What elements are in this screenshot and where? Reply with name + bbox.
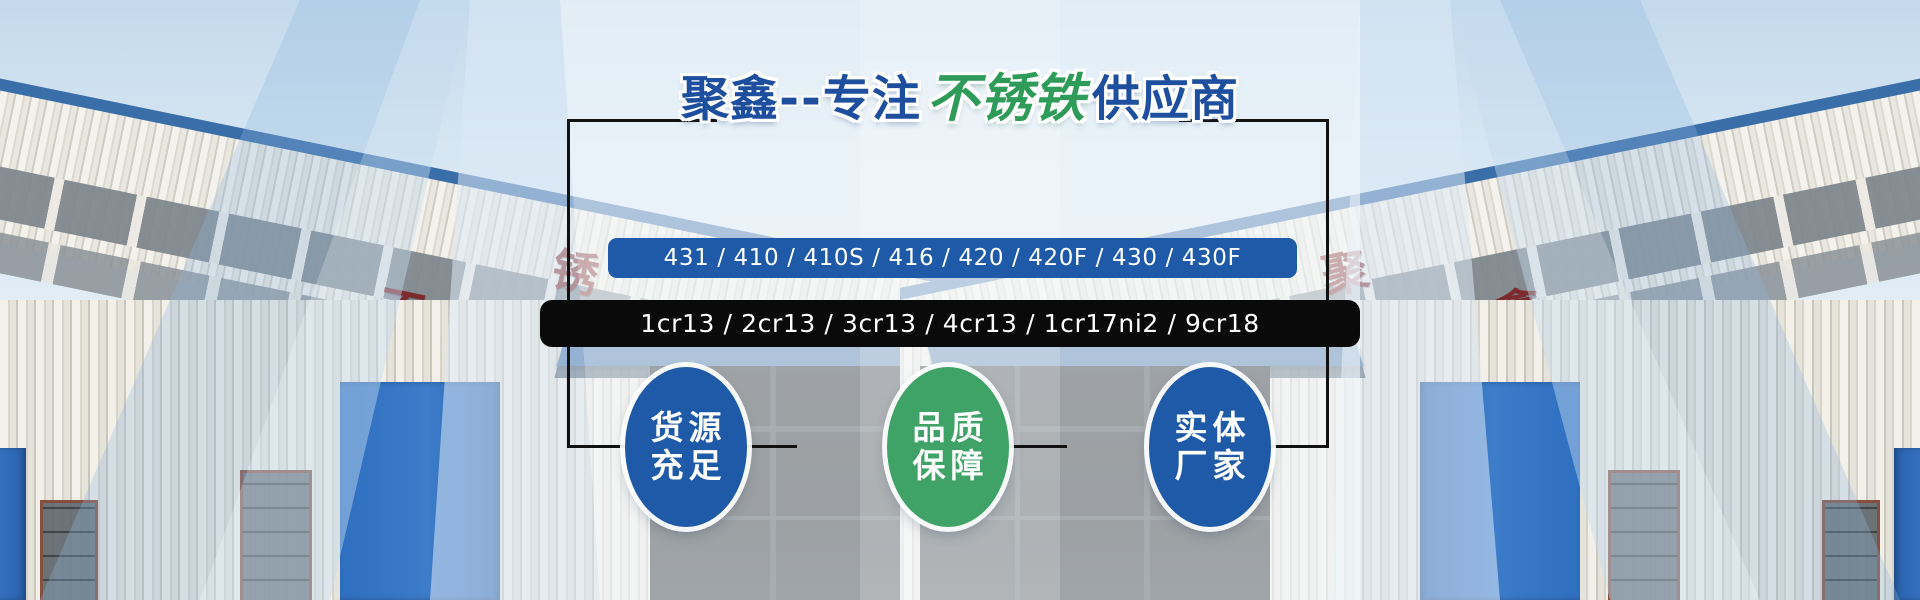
promo-banner: 聚 鑫 不 锈 锈 不 鑫 (0, 0, 1920, 600)
headline-dash: -- (779, 75, 823, 123)
headline-focus: 专注 (823, 75, 921, 123)
badge-factory-line1: 实体 (1170, 409, 1251, 447)
grades-secondary-label: 1cr13 / 2cr13 / 3cr13 / 4cr13 / 1cr17ni2… (640, 309, 1260, 338)
badge-quality: 品质 保障 (887, 367, 1009, 527)
grades-primary-label: 431 / 410 / 410S / 416 / 420 / 420F / 43… (664, 245, 1242, 271)
grades-primary-pill: 431 / 410 / 410S / 416 / 420 / 420F / 43… (608, 238, 1297, 278)
badge-supply-line1: 货源 (646, 409, 727, 447)
badge-quality-line2: 保障 (908, 447, 989, 485)
headline-supplier: 供应商 (1092, 75, 1239, 123)
feature-badges: 货源 充足 品质 保障 实体 厂家 (567, 367, 1329, 527)
badge-factory: 实体 厂家 (1149, 367, 1271, 527)
headline-highlight: 不锈铁 (921, 73, 1092, 125)
badge-supply: 货源 充足 (625, 367, 747, 527)
headline-brand: 聚鑫 (681, 75, 779, 123)
badge-factory-line2: 厂家 (1170, 447, 1251, 485)
badge-supply-line2: 充足 (646, 447, 727, 485)
banner-content: 聚鑫--专注不锈铁供应商 431 / 410 / 410S / 416 / 42… (0, 0, 1920, 600)
headline: 聚鑫--专注不锈铁供应商 (0, 72, 1920, 125)
badge-quality-line1: 品质 (908, 409, 989, 447)
grades-secondary-pill: 1cr13 / 2cr13 / 3cr13 / 4cr13 / 1cr17ni2… (540, 300, 1360, 347)
